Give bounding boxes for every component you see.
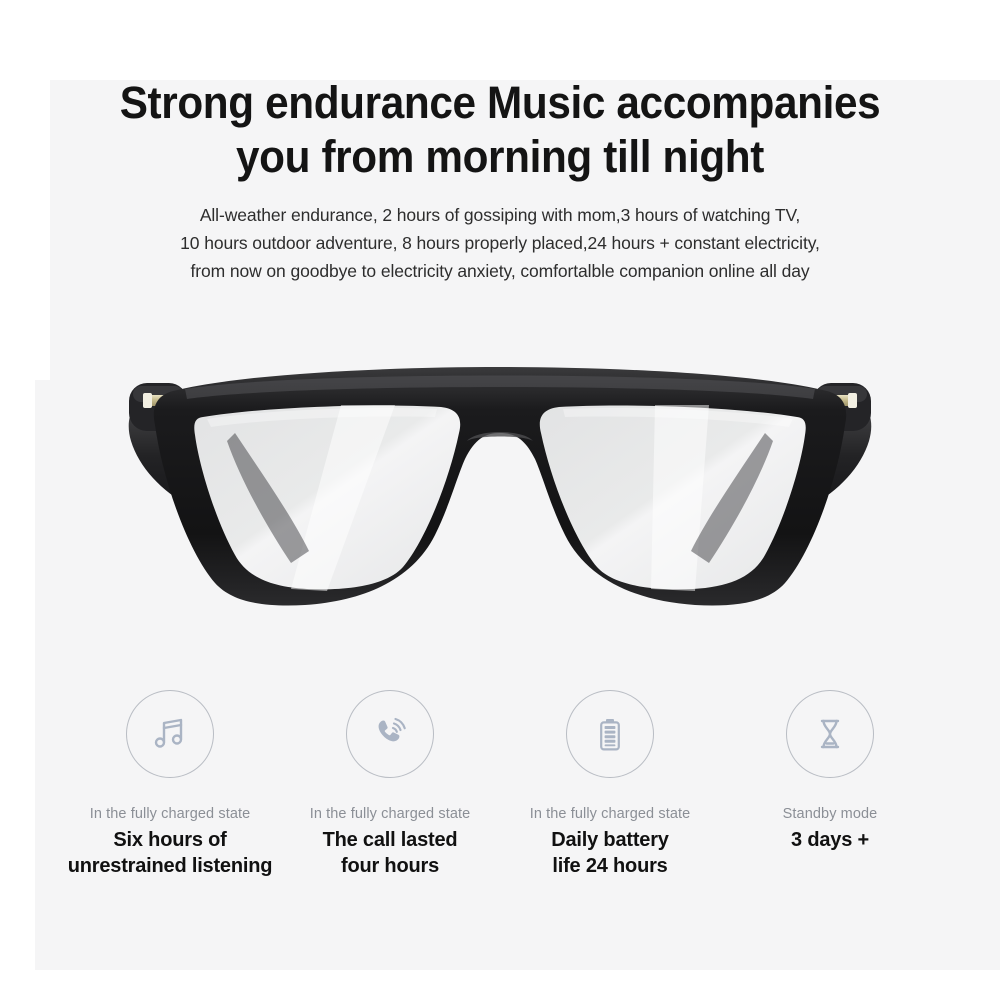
subtitle-paragraph: All-weather endurance, 2 hours of gossip… — [50, 201, 950, 285]
feature-subtitle: In the fully charged state — [90, 804, 251, 824]
feature-item-music: In the fully charged state Six hours of … — [60, 690, 280, 879]
icon-circle-battery — [566, 690, 654, 778]
feature-title: 3 days + — [791, 827, 869, 853]
feature-list: In the fully charged state Six hours of … — [60, 690, 940, 879]
feature-subtitle: Standby mode — [783, 804, 878, 824]
feature-title: The call lasted four hours — [323, 827, 458, 879]
feature-subtitle: In the fully charged state — [530, 804, 691, 824]
icon-circle-standby — [786, 690, 874, 778]
battery-icon — [590, 714, 630, 754]
hourglass-icon — [810, 714, 850, 754]
product-image-glasses — [95, 355, 905, 645]
product-marketing-banner: Strong endurance Music accompanies you f… — [0, 0, 1000, 1000]
feature-subtitle: In the fully charged state — [310, 804, 471, 824]
feature-item-call: In the fully charged state The call last… — [280, 690, 500, 879]
icon-circle-call — [346, 690, 434, 778]
feature-item-standby: Standby mode 3 days + — [720, 690, 940, 879]
feature-title: Daily battery life 24 hours — [551, 827, 668, 879]
icon-circle-music — [126, 690, 214, 778]
feature-item-battery: In the fully charged state Daily battery… — [500, 690, 720, 879]
music-note-icon — [150, 714, 190, 754]
page-title: Strong endurance Music accompanies you f… — [30, 76, 970, 184]
feature-title: Six hours of unrestrained listening — [68, 827, 273, 879]
phone-call-icon — [370, 714, 410, 754]
